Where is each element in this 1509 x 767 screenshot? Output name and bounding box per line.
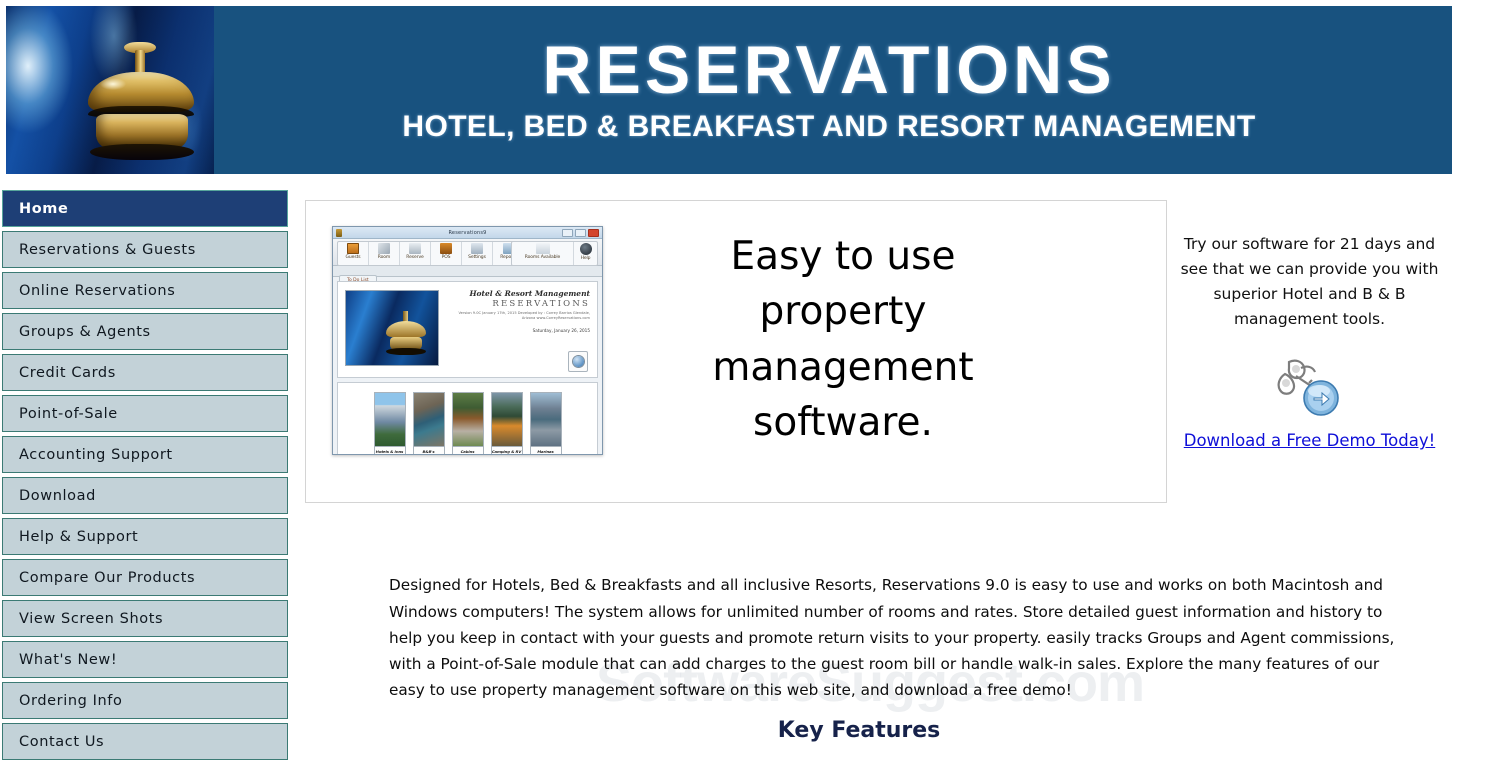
rooms-available-group: Rooms Available Help xyxy=(511,241,598,266)
toolbar-button-reserve[interactable]: Reserve xyxy=(400,242,431,265)
hero-tagline: Easy to use property management software… xyxy=(678,229,1008,451)
banner-text-block: RESERVATIONS HOTEL, BED & BREAKFAST AND … xyxy=(214,6,1452,174)
toolbar-button-room[interactable]: Room xyxy=(369,242,400,265)
category-thumbnail xyxy=(530,392,562,447)
site-banner: RESERVATIONS HOTEL, BED & BREAKFAST AND … xyxy=(6,6,1452,174)
category-camping-rv[interactable]: Camping & RV xyxy=(491,392,523,455)
sidebar-item-label: Ordering Info xyxy=(19,693,122,709)
sidebar-item-home[interactable]: Home xyxy=(2,190,288,227)
sidebar-item-label: Reservations & Guests xyxy=(19,242,196,258)
key-icon xyxy=(573,356,584,367)
toolbar-button-label: Room xyxy=(378,255,390,260)
app-window-controls[interactable] xyxy=(562,229,599,237)
sidebar-item-label: Accounting Support xyxy=(19,447,173,463)
toolbar-button-label: Settings xyxy=(468,255,486,260)
mini-bell-foot xyxy=(386,348,426,355)
sidebar-item-credit-cards[interactable]: Credit Cards xyxy=(2,354,288,391)
sidebar-item-label: View Screen Shots xyxy=(19,611,163,627)
bell-foot xyxy=(90,144,194,160)
sidebar-item-online-reservations[interactable]: Online Reservations xyxy=(2,272,288,309)
rooms-available-icon xyxy=(536,243,550,254)
sidebar-item-contact-us[interactable]: Contact Us xyxy=(2,723,288,760)
hero-panel: Reservations9 Guests Room Reserve xyxy=(305,200,1167,503)
sidebar-item-whats-new[interactable]: What's New! xyxy=(2,641,288,678)
category-thumbnail xyxy=(452,392,484,447)
sidebar-item-label: Point-of-Sale xyxy=(19,406,118,422)
toolbar-button-label: POS xyxy=(442,255,451,260)
sidebar-navigation: Home Reservations & Guests Online Reserv… xyxy=(2,190,288,764)
key-features-heading: Key Features xyxy=(389,718,1329,743)
app-brand-line2: RESERVATIONS xyxy=(452,299,590,309)
app-brand-line1: Hotel & Resort Management xyxy=(452,289,590,298)
sidebar-item-ordering-info[interactable]: Ordering Info xyxy=(2,682,288,719)
category-label: Marinas xyxy=(530,447,562,455)
bell-glint xyxy=(100,78,126,90)
category-label: B&B's xyxy=(413,447,445,455)
download-free-demo-link[interactable]: Download a Free Demo Today! xyxy=(1172,428,1447,454)
toolbar-button-rooms-available[interactable]: Rooms Available xyxy=(512,242,574,265)
banner-subtitle: HOTEL, BED & BREAKFAST AND RESORT MANAGE… xyxy=(402,110,1255,144)
hotel-bell-photo xyxy=(6,6,214,174)
sidebar-item-point-of-sale[interactable]: Point-of-Sale xyxy=(2,395,288,432)
app-categories-panel: Hotels & Inns B&B's Cabins Camping & RV … xyxy=(337,382,598,455)
toolbar-button-label: Reserve xyxy=(406,255,423,260)
app-toolbar: Guests Room Reserve POS Settings xyxy=(333,239,602,266)
app-brand-block: Hotel & Resort Management RESERVATIONS V… xyxy=(452,289,590,333)
reserve-icon xyxy=(409,243,421,254)
app-brand-line3: Version 9.0C January 17th, 2015 Develope… xyxy=(452,311,590,322)
room-icon xyxy=(378,243,390,254)
app-brand-date: Saturday, January 26, 2015 xyxy=(452,328,590,333)
minimize-icon[interactable] xyxy=(562,229,573,237)
app-window-icon xyxy=(336,229,342,237)
sidebar-item-label: Groups & Agents xyxy=(19,324,151,340)
sidebar-item-label: Credit Cards xyxy=(19,365,116,381)
sidebar-item-label: Online Reservations xyxy=(19,283,175,299)
app-bell-image xyxy=(345,290,439,366)
app-splash-panel: Hotel & Resort Management RESERVATIONS V… xyxy=(337,281,598,378)
app-window-titlebar: Reservations9 xyxy=(333,227,602,239)
maximize-icon[interactable] xyxy=(575,229,586,237)
toolbar-button-pos[interactable]: POS xyxy=(431,242,462,265)
settings-icon xyxy=(471,243,483,254)
sidebar-item-accounting-support[interactable]: Accounting Support xyxy=(2,436,288,473)
sidebar-item-download[interactable]: Download xyxy=(2,477,288,514)
category-cabins[interactable]: Cabins xyxy=(452,392,484,455)
bell-base xyxy=(96,114,188,148)
category-thumbnail xyxy=(413,392,445,447)
category-marinas[interactable]: Marinas xyxy=(530,392,562,455)
app-window-title: Reservations9 xyxy=(448,230,486,236)
toolbar-button-guests[interactable]: Guests xyxy=(338,242,369,265)
sidebar-item-help-support[interactable]: Help & Support xyxy=(2,518,288,555)
toolbar-button-settings[interactable]: Settings xyxy=(462,242,493,265)
product-description: Designed for Hotels, Bed & Breakfasts an… xyxy=(389,572,1413,703)
app-toolbar-right-group: Rooms Available Help xyxy=(511,241,598,266)
trial-text: Try our software for 21 days and see tha… xyxy=(1172,232,1447,332)
sidebar-item-label: Contact Us xyxy=(19,734,104,750)
close-icon[interactable] xyxy=(588,229,599,237)
category-bed-and-breakfast[interactable]: B&B's xyxy=(413,392,445,455)
sidebar-item-label: Help & Support xyxy=(19,529,138,545)
mini-bell-dome xyxy=(386,321,426,337)
sidebar-item-label: What's New! xyxy=(19,652,117,668)
sidebar-item-label: Download xyxy=(19,488,96,504)
sidebar-item-compare-our-products[interactable]: Compare Our Products xyxy=(2,559,288,596)
category-thumbnail xyxy=(491,392,523,447)
sidebar-item-label: Home xyxy=(19,201,68,217)
banner-title: RESERVATIONS xyxy=(542,36,1115,105)
app-key-button[interactable] xyxy=(568,351,588,372)
sidebar-item-groups-agents[interactable]: Groups & Agents xyxy=(2,313,288,350)
category-thumbnail xyxy=(374,392,406,447)
sidebar-item-label: Compare Our Products xyxy=(19,570,195,586)
sidebar-item-reservations-guests[interactable]: Reservations & Guests xyxy=(2,231,288,268)
trial-promo-column: Try our software for 21 days and see tha… xyxy=(1172,232,1447,454)
toolbar-button-label: Help xyxy=(581,256,591,261)
app-screenshot-window[interactable]: Reservations9 Guests Room Reserve xyxy=(332,226,603,455)
help-icon xyxy=(580,243,592,255)
category-label: Cabins xyxy=(452,447,484,455)
category-label: Hotels & Inns xyxy=(374,447,406,455)
app-body: Hotel & Resort Management RESERVATIONS V… xyxy=(333,277,602,455)
sidebar-item-view-screen-shots[interactable]: View Screen Shots xyxy=(2,600,288,637)
guests-icon xyxy=(347,243,359,254)
app-tab-bar: To Do List xyxy=(333,266,602,277)
category-hotels-inns[interactable]: Hotels & Inns xyxy=(374,392,406,455)
toolbar-button-label: Guests xyxy=(346,255,361,260)
toolbar-button-help[interactable]: Help xyxy=(574,242,597,265)
keys-download-icon xyxy=(1271,356,1349,418)
app-toolbar-main-group: Guests Room Reserve POS Settings xyxy=(337,241,525,266)
hotel-bell-icon xyxy=(80,34,202,164)
category-label: Camping & RV xyxy=(491,447,523,455)
toolbar-button-label: Rooms Available xyxy=(525,255,560,260)
pos-icon xyxy=(440,243,452,254)
